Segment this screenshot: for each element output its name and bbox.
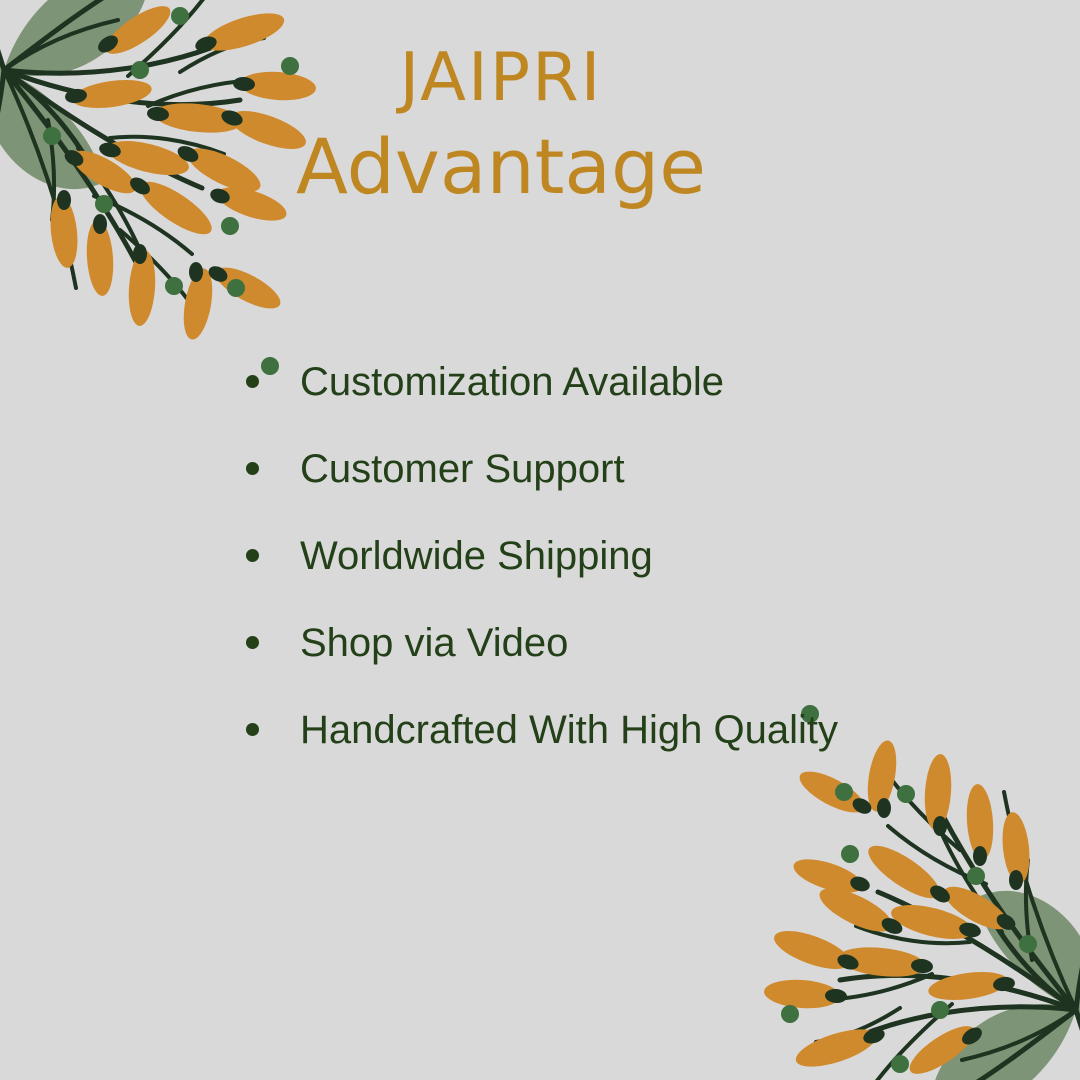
poster-canvas: JAIPRI Advantage Customization Available… xyxy=(0,0,1080,1080)
branch-stems-icon xyxy=(4,0,264,308)
title-line-subject: Advantage xyxy=(286,129,716,205)
bullet-icon xyxy=(246,549,259,562)
list-item: Customization Available xyxy=(246,338,1006,425)
petal-bases-icon xyxy=(57,32,255,285)
page-title: JAIPRI Advantage xyxy=(286,44,716,205)
advantage-feature-list: Customization Available Customer Support… xyxy=(246,338,1006,773)
petal-cluster-icon xyxy=(763,738,1033,1080)
list-item-label: Customer Support xyxy=(300,448,625,490)
bullet-icon xyxy=(246,723,259,736)
list-item-label: Handcrafted With High Quality xyxy=(300,709,838,751)
bullet-icon xyxy=(246,462,259,475)
petal-cluster-icon xyxy=(47,0,317,342)
leaf-cluster-icon xyxy=(0,0,150,216)
list-item: Worldwide Shipping xyxy=(246,512,1006,599)
list-item: Handcrafted With High Quality xyxy=(246,686,1006,773)
leaf-cluster-icon xyxy=(930,864,1080,1080)
title-line-brand: JAIPRI xyxy=(286,44,716,111)
list-item-label: Customization Available xyxy=(300,361,724,403)
list-item: Shop via Video xyxy=(246,599,1006,686)
petal-bases-icon xyxy=(825,795,1023,1048)
list-item: Customer Support xyxy=(246,425,1006,512)
branch-stems-icon xyxy=(816,772,1076,1080)
berry-dots-icon xyxy=(43,7,299,375)
list-item-label: Worldwide Shipping xyxy=(300,535,653,577)
bullet-icon xyxy=(246,636,259,649)
list-item-label: Shop via Video xyxy=(300,622,568,664)
bullet-icon xyxy=(246,375,259,388)
